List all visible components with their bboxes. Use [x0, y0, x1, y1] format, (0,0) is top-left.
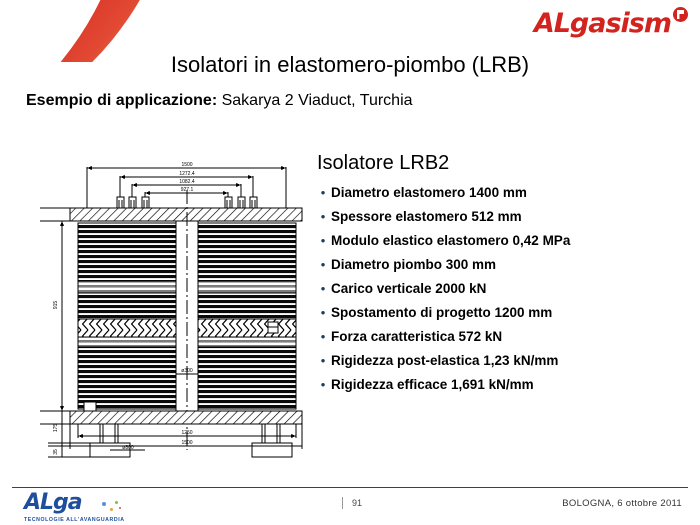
list-item: • Forza caratteristica 572 kN — [315, 327, 693, 346]
list-item: • Spostamento di progetto 1200 mm — [315, 303, 693, 322]
bullet-icon: • — [315, 255, 331, 274]
list-item: • Carico verticale 2000 kN — [315, 279, 693, 298]
subtitle-label: Esempio di applicazione: — [26, 92, 217, 109]
algasism-logo-text: ALgasism — [534, 10, 671, 37]
list-item: • Spessore elastomero 512 mm — [315, 207, 693, 226]
bullet-icon: • — [315, 351, 331, 370]
bullet-icon: • — [315, 231, 331, 250]
dim-top-second: 1272.4 — [179, 171, 195, 177]
bullet-icon: • — [315, 279, 331, 298]
subtitle: Esempio di applicazione: Sakarya 2 Viadu… — [26, 92, 413, 110]
dim-bottom-overall: 1500 — [181, 440, 192, 446]
page-number: 91 — [352, 498, 362, 508]
list-item-label: Carico verticale 2000 kN — [331, 279, 486, 298]
alga-logo-tagline: TECNOLOGIE ALL'AVANGUARDIA — [24, 517, 125, 523]
footer: ALga TECNOLOGIE ALL'AVANGUARDIA 91 BOLOG… — [0, 489, 700, 525]
registered-trademark-icon — [673, 7, 688, 22]
list-item: • Modulo elastico elastomero 0,42 MPa — [315, 231, 693, 250]
dim-left-small: 35 — [53, 449, 59, 455]
alga-company-logo: ALga TECNOLOGIE ALL'AVANGUARDIA — [24, 492, 125, 523]
footer-divider — [12, 487, 688, 488]
list-item: • Diametro piombo 300 mm — [315, 255, 693, 274]
bullet-icon: • — [315, 375, 331, 394]
list-item-label: Forza caratteristica 572 kN — [331, 327, 502, 346]
algasism-logo: ALgasism — [534, 10, 688, 37]
list-item-label: Spostamento di progetto 1200 mm — [331, 303, 552, 322]
dim-top-fourth: 927.1 — [181, 187, 194, 193]
bullet-icon: • — [315, 303, 331, 322]
dim-anchor-circle: ø800 — [122, 445, 134, 451]
dim-left-mid: 175 — [53, 424, 59, 433]
page-number-value: 91 — [352, 498, 362, 508]
dim-top-third: 1082.4 — [179, 179, 195, 185]
list-item: • Rigidezza efficace 1,691 kN/mm — [315, 375, 693, 394]
list-item: • Diametro elastomero 1400 mm — [315, 183, 693, 202]
bullet-icon: • — [315, 207, 331, 226]
list-item-label: Rigidezza efficace 1,691 kN/mm — [331, 375, 534, 394]
dim-bottom-inner: 1250 — [181, 430, 192, 436]
dim-top-overall: 1500 — [181, 162, 192, 168]
bullet-icon: • — [315, 327, 331, 346]
section-heading: Isolatore LRB2 — [317, 152, 693, 175]
bearing-drawing-svg: 1500 1272.4 1082.4 927.1 1250 1500 ø300 … — [40, 150, 315, 460]
alga-logo-dots-icon — [102, 498, 124, 516]
bullet-icon: • — [315, 183, 331, 202]
page-title: Isolatori in elastomero-piombo (LRB) — [0, 52, 700, 78]
page-number-separator — [342, 497, 343, 509]
list-item: • Rigidezza post-elastica 1,23 kN/mm — [315, 351, 693, 370]
dim-lead-core: ø300 — [181, 368, 193, 374]
list-item-label: Diametro elastomero 1400 mm — [331, 183, 527, 202]
dim-left-height: 915 — [53, 301, 59, 310]
specs-panel: Isolatore LRB2 • Diametro elastomero 140… — [315, 152, 693, 399]
list-item-label: Diametro piombo 300 mm — [331, 255, 496, 274]
bearing-section-drawing: 1500 1272.4 1082.4 927.1 1250 1500 ø300 … — [40, 150, 315, 460]
list-item-label: Spessore elastomero 512 mm — [331, 207, 522, 226]
subtitle-value: Sakarya 2 Viaduct, Turchia — [217, 92, 412, 109]
list-item-label: Modulo elastico elastomero 0,42 MPa — [331, 231, 570, 250]
footer-event-label: BOLOGNA, 6 ottobre 2011 — [562, 498, 682, 509]
list-item-label: Rigidezza post-elastica 1,23 kN/mm — [331, 351, 558, 370]
